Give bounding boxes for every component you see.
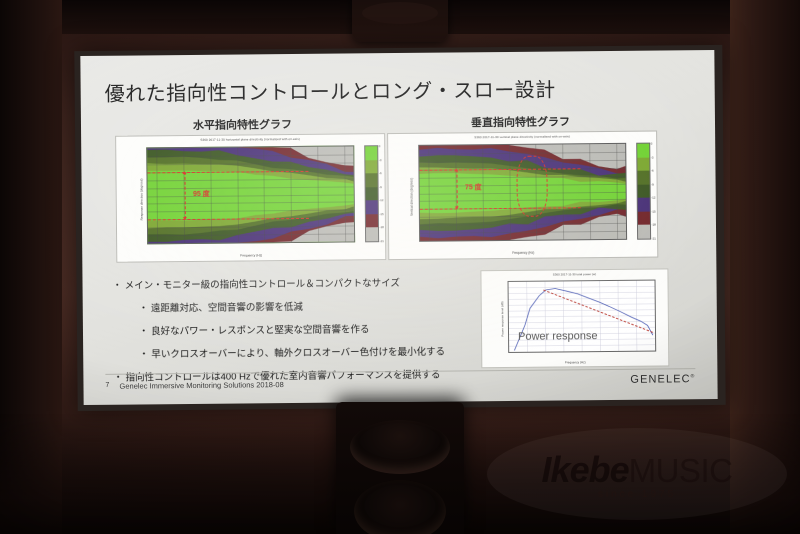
colorbar-segment — [637, 144, 649, 158]
colorbar-tick-label: -12 — [651, 196, 655, 200]
x-tick-label: 8000 — [315, 244, 322, 245]
bullet-item: ・ 遠距離対応、空間音響の影響を低減 — [139, 297, 485, 314]
bullet-text: メイン・モニター級の指向性コントロール＆コンパクトなサイズ — [125, 278, 400, 292]
speaker-woofer — [354, 480, 446, 534]
x-tick-label: 8000 — [587, 241, 594, 242]
x-tick-label: 16000 — [613, 241, 622, 242]
chart-caption: S360 2017-11-30 vertical plane directivi… — [388, 134, 656, 141]
colorbar-segment — [638, 225, 650, 239]
colorbar-tick-label: -6 — [651, 169, 654, 173]
colorbar-tick-label: -9 — [379, 185, 382, 189]
watermark-ikebe: Ikebe — [542, 449, 629, 491]
annotation-arrow-down — [455, 207, 459, 210]
annotation-arrow-up — [183, 171, 187, 174]
watermark-brand: Ikebe MUSIC — [542, 449, 733, 491]
colorbar-segment — [637, 157, 649, 171]
colorbar: 0-3-6-9-12-15-18-21 — [364, 145, 379, 242]
annotation-arrow-down — [183, 217, 187, 220]
y-axis-label: Vertical direction (degrees) — [409, 177, 413, 215]
chart-caption: S360 2017-11-30 horizontal plane directi… — [116, 136, 384, 143]
colorbar-tick-label: -3 — [651, 155, 654, 159]
presentation-slide: 優れた指向性コントロールとロング・スロー設計 水平指向特性グラフ 垂直指向特性グ… — [80, 50, 717, 405]
vertical-directivity-chart: S360 2017-11-30 vertical plane directivi… — [387, 131, 658, 261]
photo-scene: 優れた指向性コントロールとロング・スロー設計 水平指向特性グラフ 垂直指向特性グ… — [0, 0, 800, 534]
colorbar-segment — [637, 171, 649, 185]
colorbar-tick-label: -15 — [651, 209, 655, 213]
colorbar-tick-label: -18 — [379, 226, 383, 230]
y-axis-label: Response direction (degrees) — [139, 178, 143, 220]
projection-screen: 優れた指向性コントロールとロング・スロー設計 水平指向特性グラフ 垂直指向特性グ… — [74, 45, 725, 411]
colorbar-tick-label: 0 — [651, 142, 653, 146]
watermark-music: MUSIC — [629, 452, 733, 490]
bullet-item: ・ メイン・モニター級の指向性コントロール＆コンパクトなサイズ — [112, 274, 484, 292]
footer-text: Genelec Immersive Monitoring Solutions 2… — [119, 380, 283, 391]
colorbar-tick-label: -9 — [651, 182, 654, 186]
colorbar-segment — [638, 184, 650, 198]
watermark-tagline: since 1975 — [598, 489, 676, 500]
bullet-item: ・ 良好なパワー・レスポンスと堅実な空間音響を作る — [139, 320, 485, 337]
x-axis-label: Frequency (Hz) — [389, 250, 657, 257]
colorbar-tick-label: -12 — [379, 198, 383, 202]
bullet-text: 早いクロスオーバーにより、軸外クロスオーバー色付けを最小化する — [151, 347, 445, 361]
colorbar-segment — [366, 214, 378, 228]
studio-monitor-speaker — [336, 402, 464, 534]
colorbar-tick-label: -18 — [651, 223, 655, 227]
colorbar-segment — [365, 173, 377, 187]
speaker-waveguide — [350, 420, 450, 474]
bullet-text: 遠距離対応、空間音響の影響を低減 — [151, 302, 303, 314]
x-axis-label: Frequency (Hz) — [117, 252, 385, 259]
slide-title: 優れた指向性コントロールとロング・スロー設計 — [105, 73, 556, 106]
genelec-logo: GENELEC® — [630, 373, 695, 386]
colorbar-tick-label: -3 — [379, 158, 382, 162]
registered-mark: ® — [691, 374, 696, 380]
plot-area: 1252505001000200040008000160009075604530… — [418, 143, 627, 242]
chart-caption: S360 2017-11-30 total power (w) — [481, 271, 667, 277]
colorbar: 0-3-6-9-12-15-18-21 — [636, 143, 651, 240]
y-axis-label: Power response level (dB) — [500, 301, 504, 336]
colorbar-segment — [366, 187, 378, 201]
chart-left-heading: 水平指向特性グラフ — [193, 116, 292, 133]
annotation-arrow-up — [455, 168, 459, 171]
watermark: Ikebe MUSIC since 1975 — [487, 428, 787, 520]
colorbar-segment — [366, 201, 378, 215]
colorbar-tick-label: -21 — [652, 237, 656, 241]
x-tick-label: 16000 — [341, 243, 350, 244]
colorbar-segment — [366, 228, 378, 242]
chart-right-heading: 垂直指向特性グラフ — [471, 113, 570, 130]
bullet-item: ・ 早いクロスオーバーにより、軸外クロスオーバー色付けを最小化する — [139, 343, 485, 360]
colorbar-tick-label: 0 — [379, 144, 381, 148]
ceiling-object — [352, 0, 448, 42]
colorbar-segment — [638, 198, 650, 212]
colorbar-tick-label: -6 — [379, 171, 382, 175]
page-number: 7 — [105, 382, 109, 389]
power-response-chart: S360 2017-11-30 total power (w) Power re… — [480, 268, 669, 368]
bullet-text: 良好なパワー・レスポンスと堅実な空間音響を作る — [151, 324, 369, 337]
crossover-annotation — [516, 156, 547, 217]
colorbar-tick-label: -21 — [380, 239, 384, 243]
genelec-logo-text: GENELEC — [630, 373, 690, 386]
beamwidth-annotation: 75 度 — [465, 182, 482, 192]
colorbar-segment — [365, 160, 377, 174]
horizontal-directivity-chart: S360 2017-11-30 horizontal plane directi… — [115, 133, 386, 263]
bullet-list: ・ メイン・モニター級の指向性コントロール＆コンパクトなサイズ ・ 遠距離対応、… — [112, 274, 485, 384]
colorbar-segment — [365, 146, 377, 160]
beamwidth-annotation: 95 度 — [193, 189, 210, 199]
colorbar-tick-label: -15 — [379, 212, 383, 216]
power-response-label: Power response — [518, 330, 598, 343]
x-axis-label: Frequency (Hz) — [482, 359, 668, 365]
colorbar-segment — [638, 211, 650, 225]
plot-area: 1252505001000200040008000160009075604530… — [146, 145, 355, 244]
